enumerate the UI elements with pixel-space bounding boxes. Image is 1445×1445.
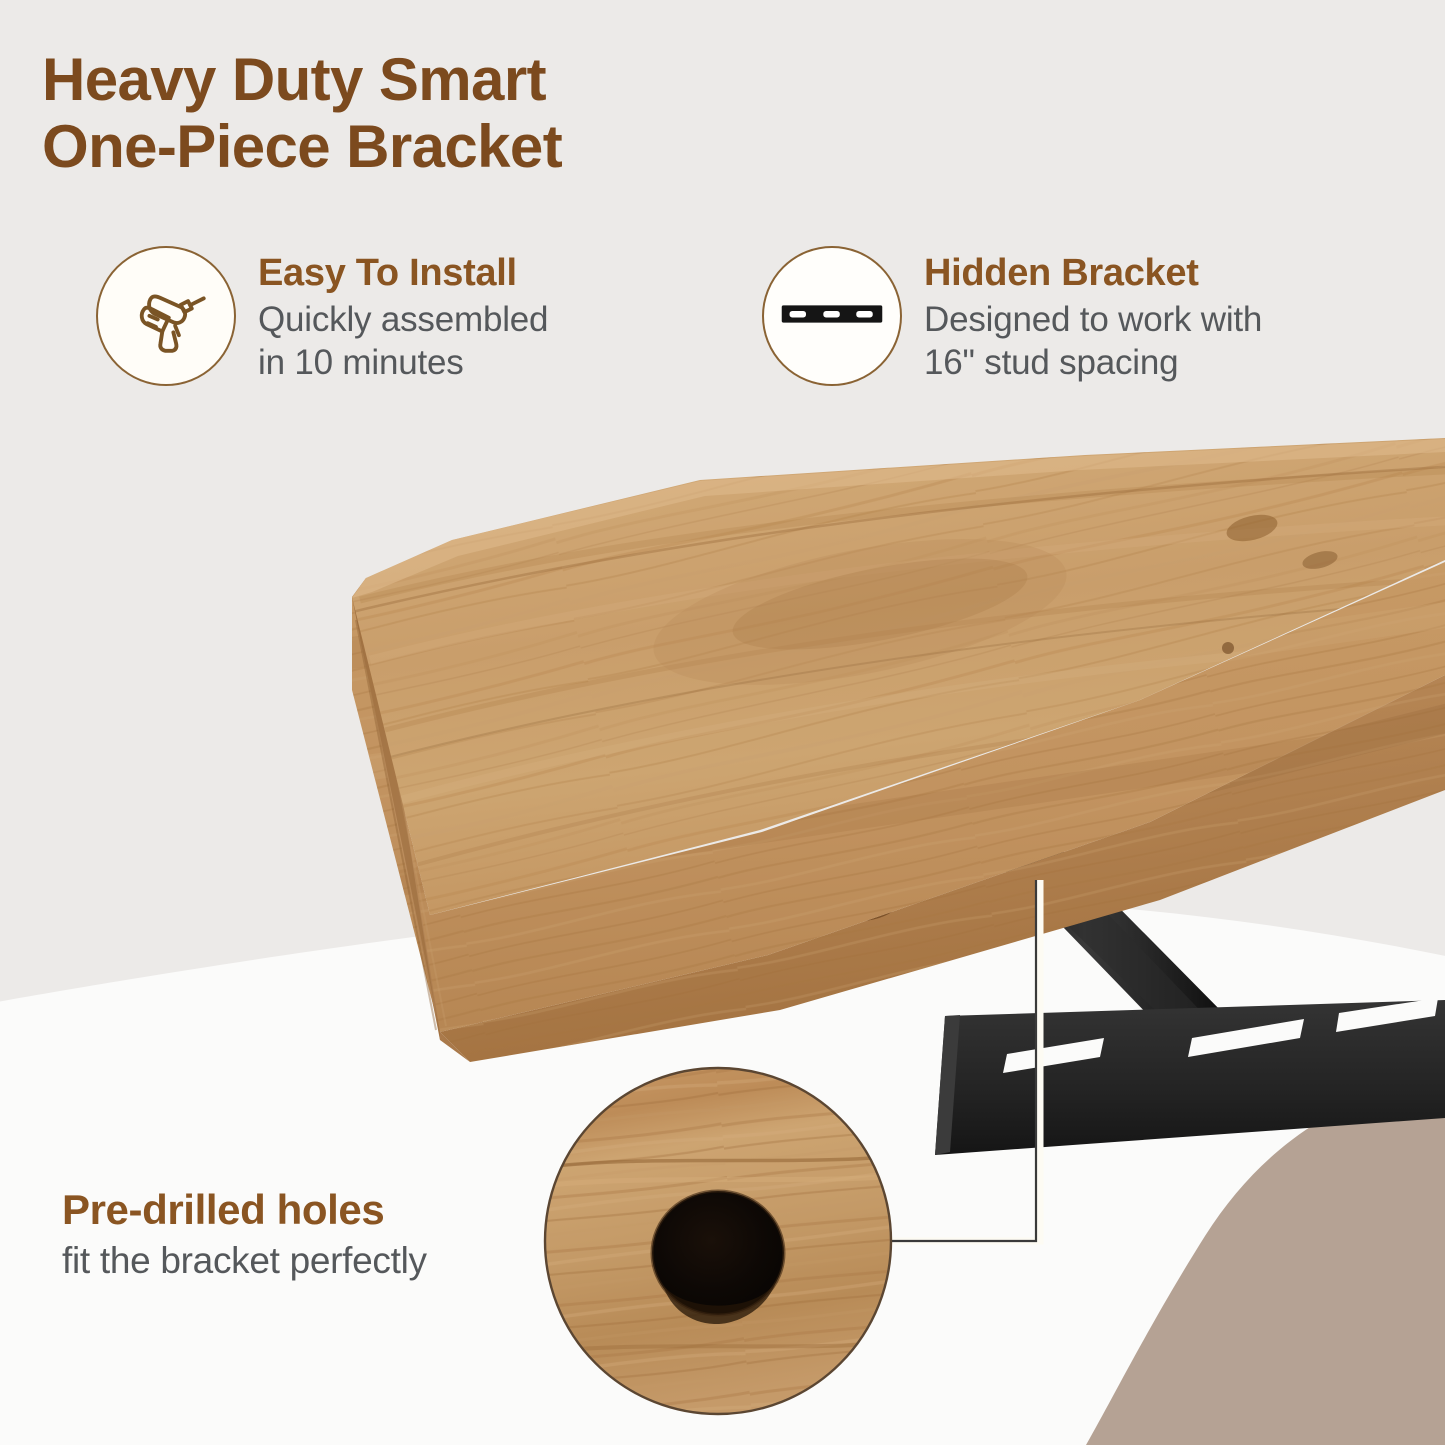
feature-body: Designed to work with 16" stud spacing xyxy=(924,299,1262,384)
feature-text-block: Easy To Install Quickly assembled in 10 … xyxy=(258,246,548,384)
callout-subtitle: fit the bracket perfectly xyxy=(62,1240,582,1282)
feature-text-block: Hidden Bracket Designed to work with 16"… xyxy=(924,246,1262,384)
bracket-bar-icon xyxy=(780,291,884,342)
feature-title: Easy To Install xyxy=(258,252,548,295)
feature-body: Quickly assembled in 10 minutes xyxy=(258,299,548,384)
callout-title: Pre-drilled holes xyxy=(62,1186,582,1234)
feature-icon-badge-bracket xyxy=(762,246,902,386)
wood-knot xyxy=(1222,642,1234,654)
product-marketing-image: Heavy Duty Smart One-Piece Bracket Easy … xyxy=(0,0,1445,1445)
feature-hidden-bracket: Hidden Bracket Designed to work with 16"… xyxy=(762,246,1382,386)
feature-easy-to-install: Easy To Install Quickly assembled in 10 … xyxy=(96,246,696,386)
feature-icon-badge-drill xyxy=(96,246,236,386)
callout-pre-drilled-holes: Pre-drilled holes fit the bracket perfec… xyxy=(62,1186,582,1282)
page-title: Heavy Duty Smart One-Piece Bracket xyxy=(42,46,902,180)
drill-icon xyxy=(120,268,212,365)
feature-title: Hidden Bracket xyxy=(924,252,1262,295)
